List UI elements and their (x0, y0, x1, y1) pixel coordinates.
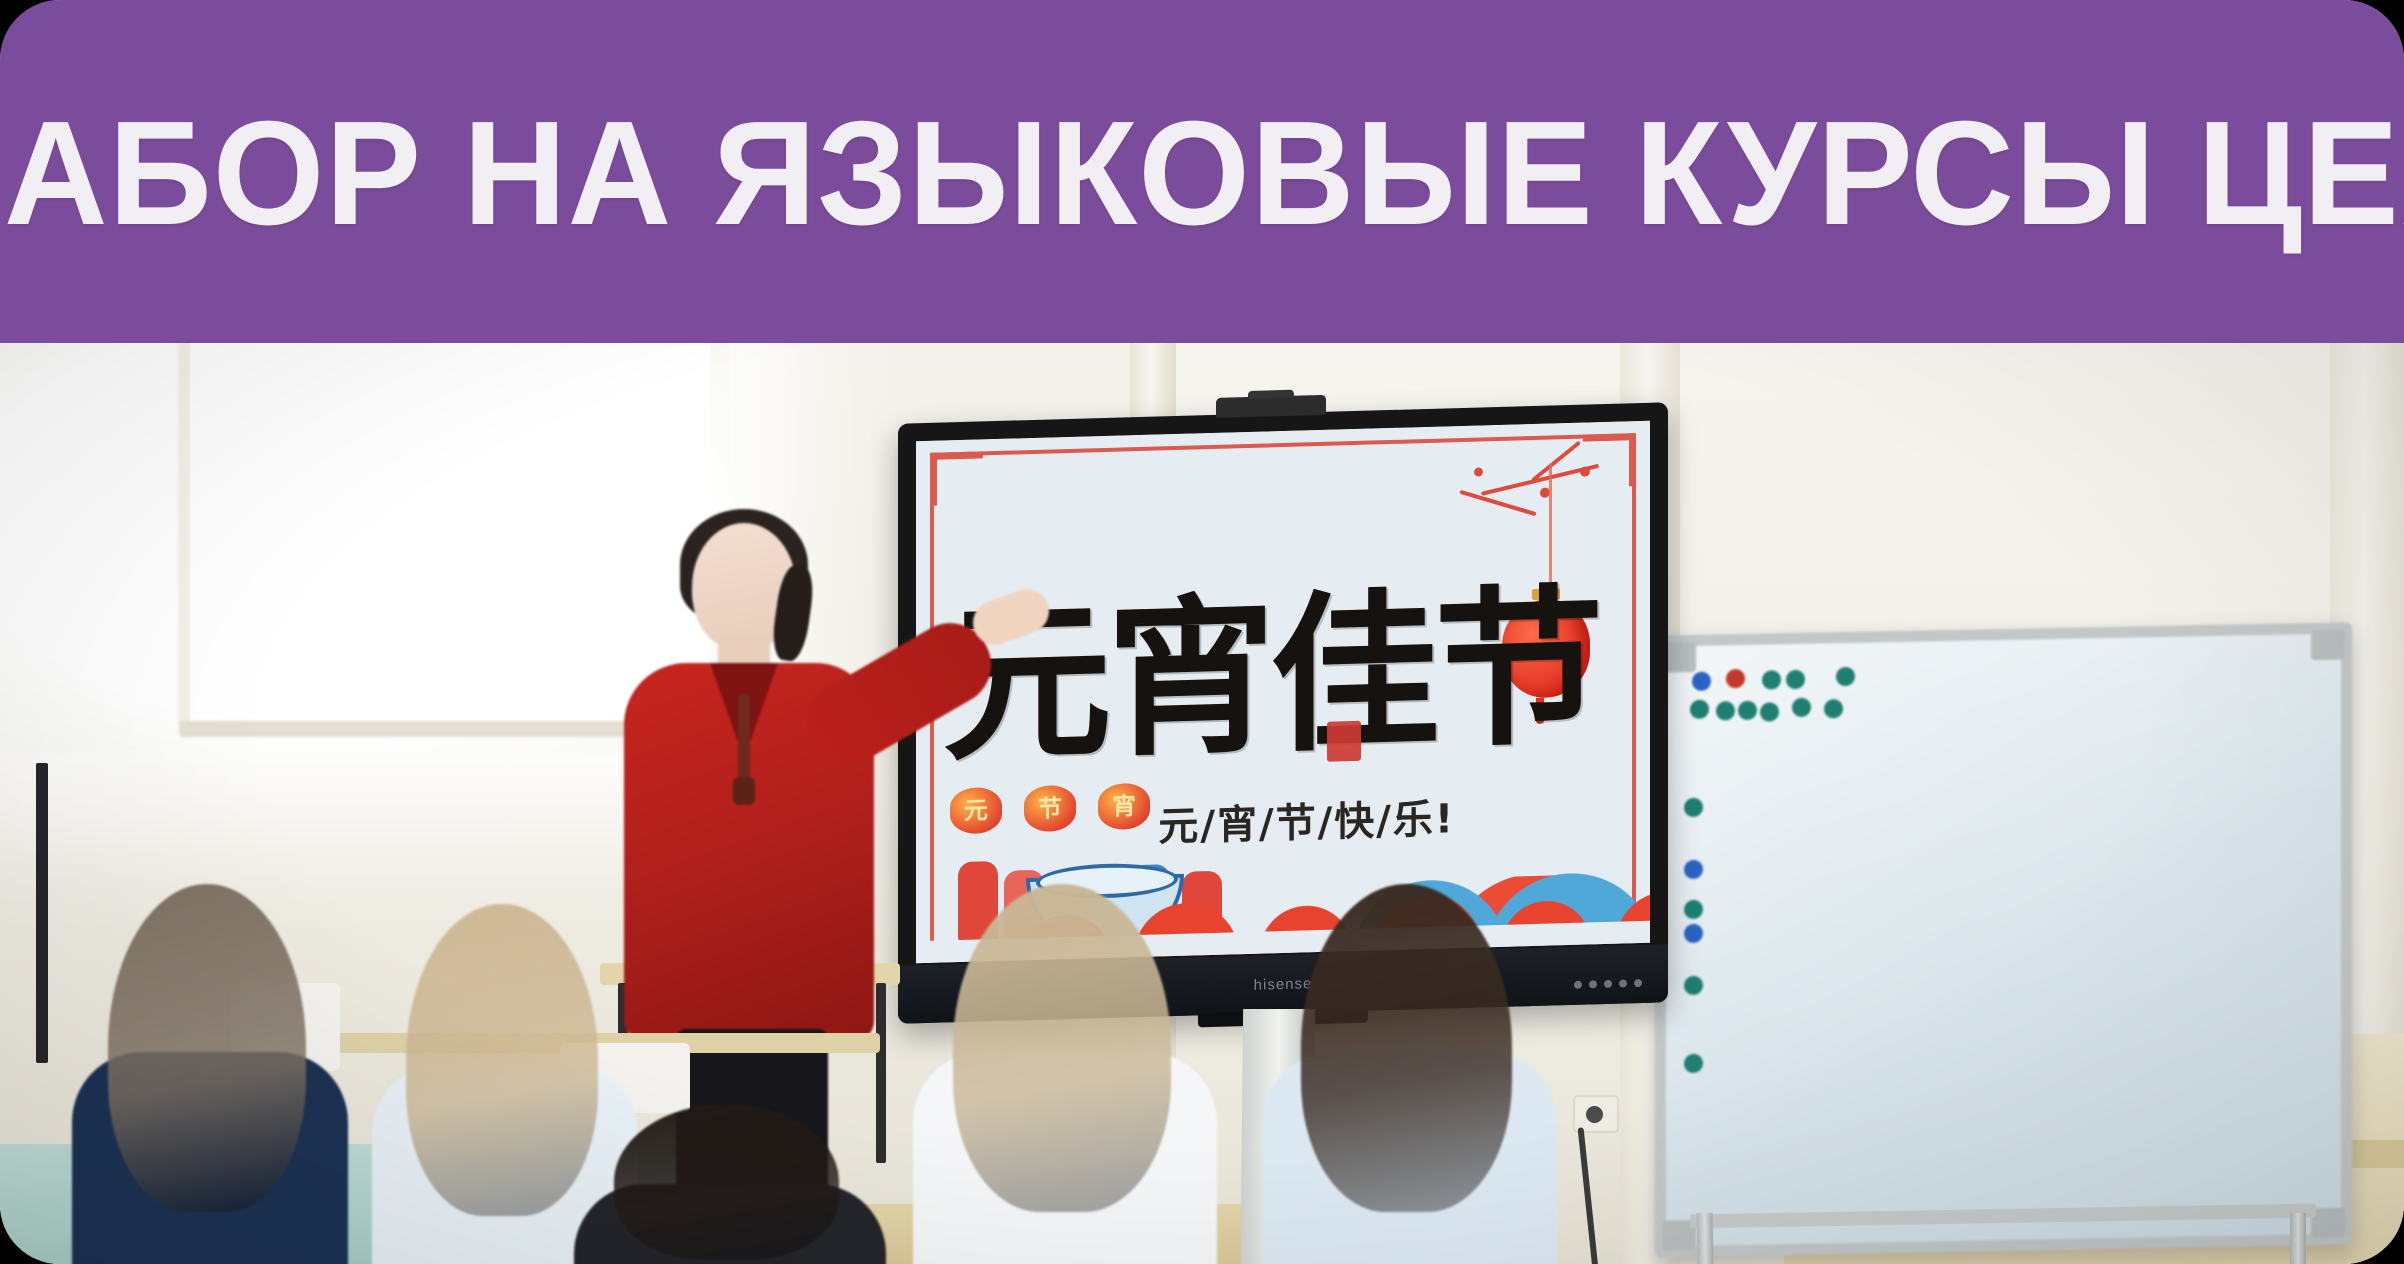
student-plaid-shirt (60, 884, 360, 1264)
student-hair (953, 884, 1171, 1212)
control-button-icon[interactable] (1604, 980, 1612, 988)
control-button-icon[interactable] (1574, 981, 1582, 989)
classroom-photo: 元宵佳节 元/宵/节/快/乐! 元 节 宵 (0, 343, 2404, 1264)
promo-card: НАБОР НА ЯЗЫКОВЫЕ КУРСЫ ЦЕА (0, 0, 2404, 1264)
mini-lantern-icon: 元 (950, 787, 1002, 834)
student-hair (614, 1104, 838, 1260)
student-dark-hair (1250, 884, 1570, 1264)
mini-lantern-icon: 宵 (1098, 783, 1150, 830)
student-front-dark-hair (560, 1104, 900, 1264)
page-title: НАБОР НА ЯЗЫКОВЫЕ КУРСЫ ЦЕА (0, 100, 2404, 248)
whiteboard-surface (1666, 634, 2341, 1247)
desk-leg (36, 763, 48, 1063)
student-hair (1301, 884, 1512, 1212)
mini-lantern-icon: 节 (1024, 785, 1076, 832)
teacher-necklace (738, 693, 750, 789)
control-button-icon[interactable] (1619, 979, 1627, 987)
slide-headline: 元宵佳节 (942, 529, 1598, 793)
control-button-icon[interactable] (1634, 979, 1642, 987)
control-button-icon[interactable] (1589, 980, 1597, 988)
seal-stamp-icon (1327, 721, 1361, 762)
whiteboard-stand-leg (2290, 1213, 2306, 1264)
student-hair (108, 884, 306, 1212)
student-white-top (900, 884, 1230, 1264)
smartboard-control-buttons[interactable] (1574, 979, 1642, 989)
whiteboard-corner (2311, 629, 2345, 660)
camera-icon (1216, 395, 1326, 418)
smartboard-screen: 元宵佳节 元/宵/节/快/乐! 元 节 宵 (916, 421, 1650, 964)
festival-slide: 元宵佳节 元/宵/节/快/乐! 元 节 宵 (916, 421, 1650, 964)
whiteboard (1655, 622, 2352, 1257)
header-banner: НАБОР НА ЯЗЫКОВЫЕ КУРСЫ ЦЕА (0, 0, 2404, 343)
whiteboard-corner (2311, 1207, 2345, 1238)
